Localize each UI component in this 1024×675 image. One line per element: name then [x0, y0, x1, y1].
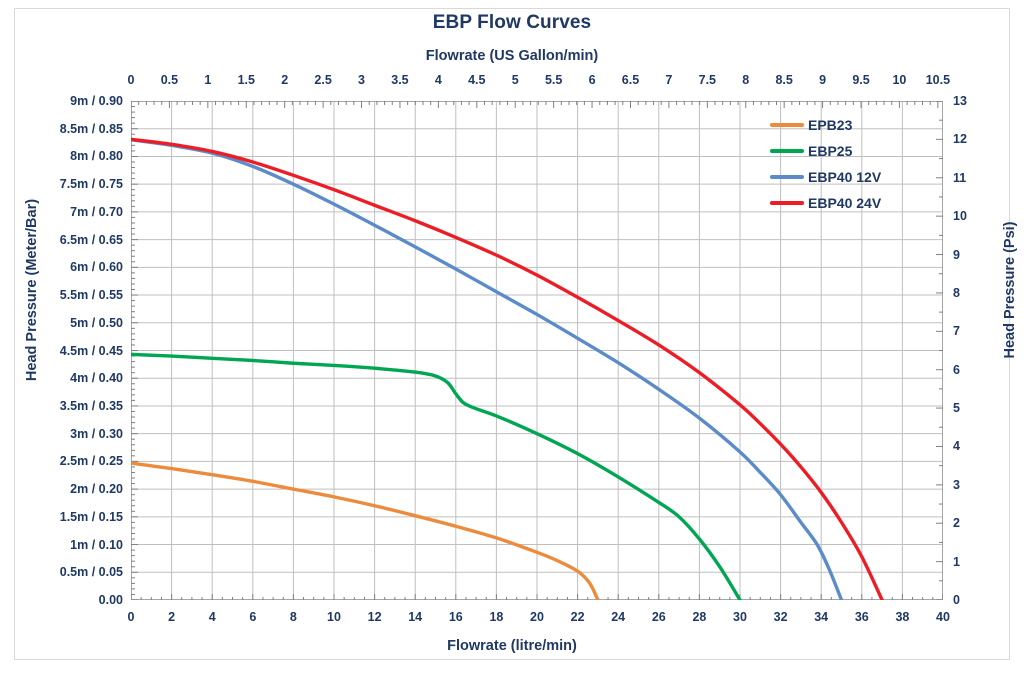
x2-tick-label: 1: [204, 73, 211, 87]
x2-tick-label: 9: [819, 73, 826, 87]
y2-tick-label: 12: [953, 132, 967, 146]
x2-tick-label: 5: [512, 73, 519, 87]
x-tick-label: 18: [489, 610, 503, 624]
x2-tick-label: 7: [665, 73, 672, 87]
x-tick-label: 24: [611, 610, 625, 624]
x-tick-label: 8: [290, 610, 297, 624]
x-tick-label: 16: [449, 610, 463, 624]
y-tick-label: 9m / 0.90: [0, 94, 123, 108]
y2-tick-label: 9: [953, 248, 960, 262]
chart-legend: EPB23EBP25EBP40 12VEBP40 24V: [770, 112, 881, 216]
x-tick-label: 30: [733, 610, 747, 624]
y2-tick-label: 10: [953, 209, 967, 223]
x2-tick-label: 4.5: [468, 73, 485, 87]
y-tick-label: 6.5m / 0.65: [0, 233, 123, 247]
y-tick-label: 1m / 0.10: [0, 538, 123, 552]
y2-tick-label: 8: [953, 286, 960, 300]
y-tick-label: 4.5m / 0.45: [0, 344, 123, 358]
x2-tick-label: 7.5: [699, 73, 716, 87]
y-tick-label: 2.5m / 0.25: [0, 454, 123, 468]
x2-tick-label: 4: [435, 73, 442, 87]
y-tick-label: 1.5m / 0.15: [0, 510, 123, 524]
x-tick-label: 4: [209, 610, 216, 624]
x-tick-label: 12: [368, 610, 382, 624]
y-tick-label: 4m / 0.40: [0, 371, 123, 385]
x-tick-label: 6: [249, 610, 256, 624]
y2-tick-label: 0: [953, 593, 960, 607]
x2-tick-label: 10: [892, 73, 906, 87]
x2-tick-label: 0.5: [161, 73, 178, 87]
x2-tick-label: 3.5: [391, 73, 408, 87]
x2-tick-label: 1.5: [238, 73, 255, 87]
y2-tick-label: 6: [953, 363, 960, 377]
x2-tick-label: 3: [358, 73, 365, 87]
y2-tick-label: 1: [953, 555, 960, 569]
y-tick-label: 7.5m / 0.75: [0, 177, 123, 191]
x2-tick-label: 0: [128, 73, 135, 87]
legend-label: EPB23: [808, 117, 852, 133]
legend-item-ebp40-12v[interactable]: EBP40 12V: [770, 164, 881, 190]
x2-tick-label: 10.5: [926, 73, 950, 87]
legend-label: EBP25: [808, 143, 852, 159]
y-tick-label: 3.5m / 0.35: [0, 399, 123, 413]
y-tick-label: 0.00: [0, 593, 123, 607]
x-tick-label: 0: [128, 610, 135, 624]
chart-title: EBP Flow Curves: [0, 12, 1024, 34]
y2-axis-title: Head Pressure (Psi): [1002, 110, 1018, 470]
x-tick-label: 32: [774, 610, 788, 624]
y-tick-label: 5m / 0.50: [0, 316, 123, 330]
x2-tick-label: 5.5: [545, 73, 562, 87]
x-tick-label: 10: [327, 610, 341, 624]
legend-item-epb23[interactable]: EPB23: [770, 112, 881, 138]
x-tick-label: 26: [652, 610, 666, 624]
x-tick-label: 20: [530, 610, 544, 624]
y2-tick-label: 2: [953, 516, 960, 530]
series-line-ebp40-12v: [131, 140, 842, 600]
legend-swatch-icon: [770, 123, 804, 127]
y2-tick-label: 4: [953, 439, 960, 453]
x2-tick-label: 2.5: [314, 73, 331, 87]
legend-label: EBP40 12V: [808, 169, 881, 185]
legend-label: EBP40 24V: [808, 195, 881, 211]
y-tick-label: 7m / 0.70: [0, 205, 123, 219]
y-tick-label: 8m / 0.80: [0, 149, 123, 163]
legend-swatch-icon: [770, 201, 804, 205]
y2-tick-label: 3: [953, 478, 960, 492]
x-tick-label: 14: [408, 610, 422, 624]
x2-tick-label: 2: [281, 73, 288, 87]
x-axis-title: Flowrate (litre/min): [0, 638, 1024, 654]
x2-tick-label: 8.5: [775, 73, 792, 87]
legend-swatch-icon: [770, 175, 804, 179]
y2-tick-label: 11: [953, 171, 966, 185]
legend-swatch-icon: [770, 149, 804, 153]
y-tick-label: 0.5m / 0.05: [0, 565, 123, 579]
x-tick-label: 40: [936, 610, 950, 624]
x2-tick-label: 8: [742, 73, 749, 87]
y2-tick-label: 7: [953, 324, 960, 338]
series-line-epb23: [131, 463, 598, 600]
x2-tick-label: 6: [589, 73, 596, 87]
y-tick-label: 3m / 0.30: [0, 427, 123, 441]
y2-tick-label: 13: [953, 94, 967, 108]
y-tick-label: 6m / 0.60: [0, 260, 123, 274]
y2-tick-label: 5: [953, 401, 960, 415]
legend-item-ebp25[interactable]: EBP25: [770, 138, 881, 164]
y-tick-label: 2m / 0.20: [0, 482, 123, 496]
x-tick-label: 36: [855, 610, 869, 624]
x-tick-label: 28: [692, 610, 706, 624]
x2-tick-label: 9.5: [852, 73, 869, 87]
top-axis-title: Flowrate (US Gallon/min): [0, 48, 1024, 64]
x-tick-label: 38: [895, 610, 909, 624]
x-tick-label: 34: [814, 610, 828, 624]
y-tick-label: 8.5m / 0.85: [0, 122, 123, 136]
y-tick-label: 5.5m / 0.55: [0, 288, 123, 302]
x2-tick-label: 6.5: [622, 73, 639, 87]
x-tick-label: 2: [168, 610, 175, 624]
x-tick-label: 22: [571, 610, 585, 624]
legend-item-ebp40-24v[interactable]: EBP40 24V: [770, 190, 881, 216]
